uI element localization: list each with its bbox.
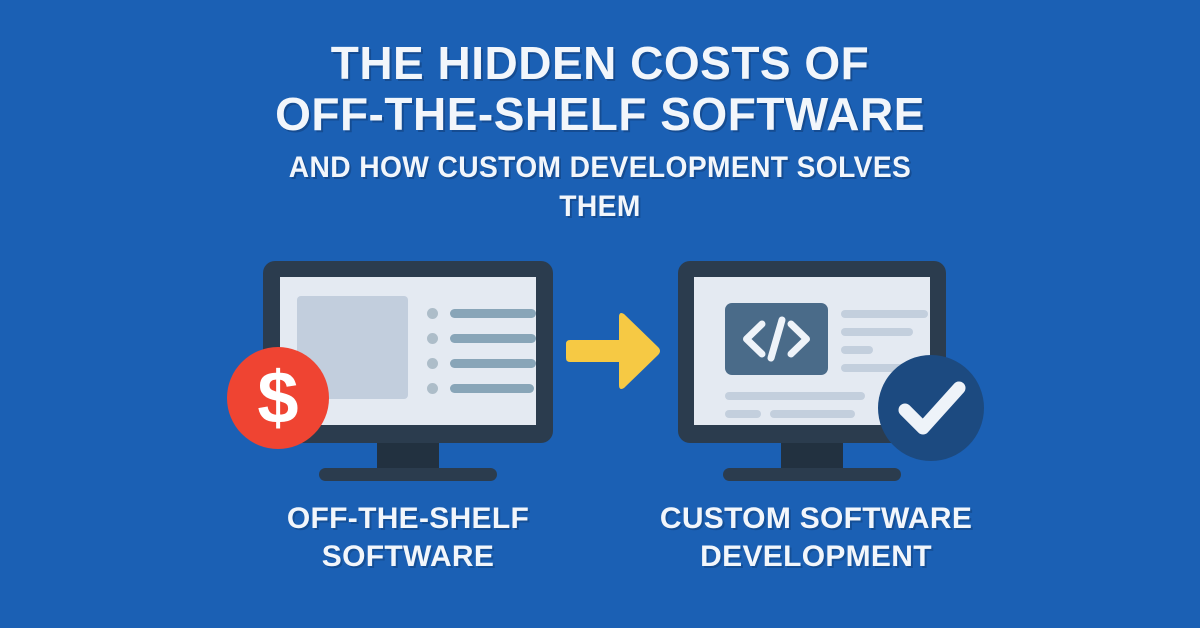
monitor-neck-right [781, 443, 843, 470]
list-item [427, 333, 537, 344]
caption-line-1: OFF-THE-SHELF [287, 502, 529, 535]
monitor-base-left [319, 468, 497, 481]
code-block [725, 303, 828, 375]
bullet-icon [427, 333, 438, 344]
headline-block: THE HIDDEN COSTS OF OFF-THE-SHELF SOFTWA… [0, 38, 1200, 226]
caption-line-2: SOFTWARE [322, 540, 494, 573]
page-subtitle: AND HOW CUSTOM DEVELOPMENT SOLVES THEM [271, 148, 929, 226]
subtitle-wrap: AND HOW CUSTOM DEVELOPMENT SOLVES THEM [250, 148, 950, 226]
text-line [770, 410, 855, 418]
dollar-icon: $ [227, 347, 329, 449]
monitor-base-right [723, 468, 901, 481]
page-title-line-2: OFF-THE-SHELF SOFTWARE [0, 89, 1200, 140]
text-line [725, 392, 865, 400]
bullet-icon [427, 308, 438, 319]
text-line [841, 310, 928, 318]
caption-line-1: CUSTOM SOFTWARE [660, 502, 972, 535]
poster-canvas: THE HIDDEN COSTS OF OFF-THE-SHELF SOFTWA… [0, 0, 1200, 628]
code-angle-brackets-icon [725, 303, 828, 375]
check-icon [878, 355, 984, 461]
page-title-line-1: THE HIDDEN COSTS OF [0, 38, 1200, 89]
text-line [841, 328, 913, 336]
arrow-right-icon [566, 309, 662, 393]
list-item-bar [450, 384, 534, 393]
bullet-icon [427, 383, 438, 394]
list-item-bar [450, 309, 536, 318]
list-item [427, 308, 537, 319]
text-line [841, 346, 873, 354]
caption-custom-software: CUSTOM SOFTWARE DEVELOPMENT [612, 500, 1020, 576]
text-line [725, 410, 761, 418]
caption-line-2: DEVELOPMENT [700, 540, 932, 573]
bullet-icon [427, 358, 438, 369]
list-item-bar [450, 334, 536, 343]
check-success-badge [878, 355, 984, 461]
caption-off-the-shelf: OFF-THE-SHELF SOFTWARE [208, 500, 608, 576]
monitor-neck-left [377, 443, 439, 470]
list-item-bar [450, 359, 536, 368]
list-item [427, 358, 537, 369]
dollar-cost-badge: $ [227, 347, 329, 449]
list-item [427, 383, 537, 394]
